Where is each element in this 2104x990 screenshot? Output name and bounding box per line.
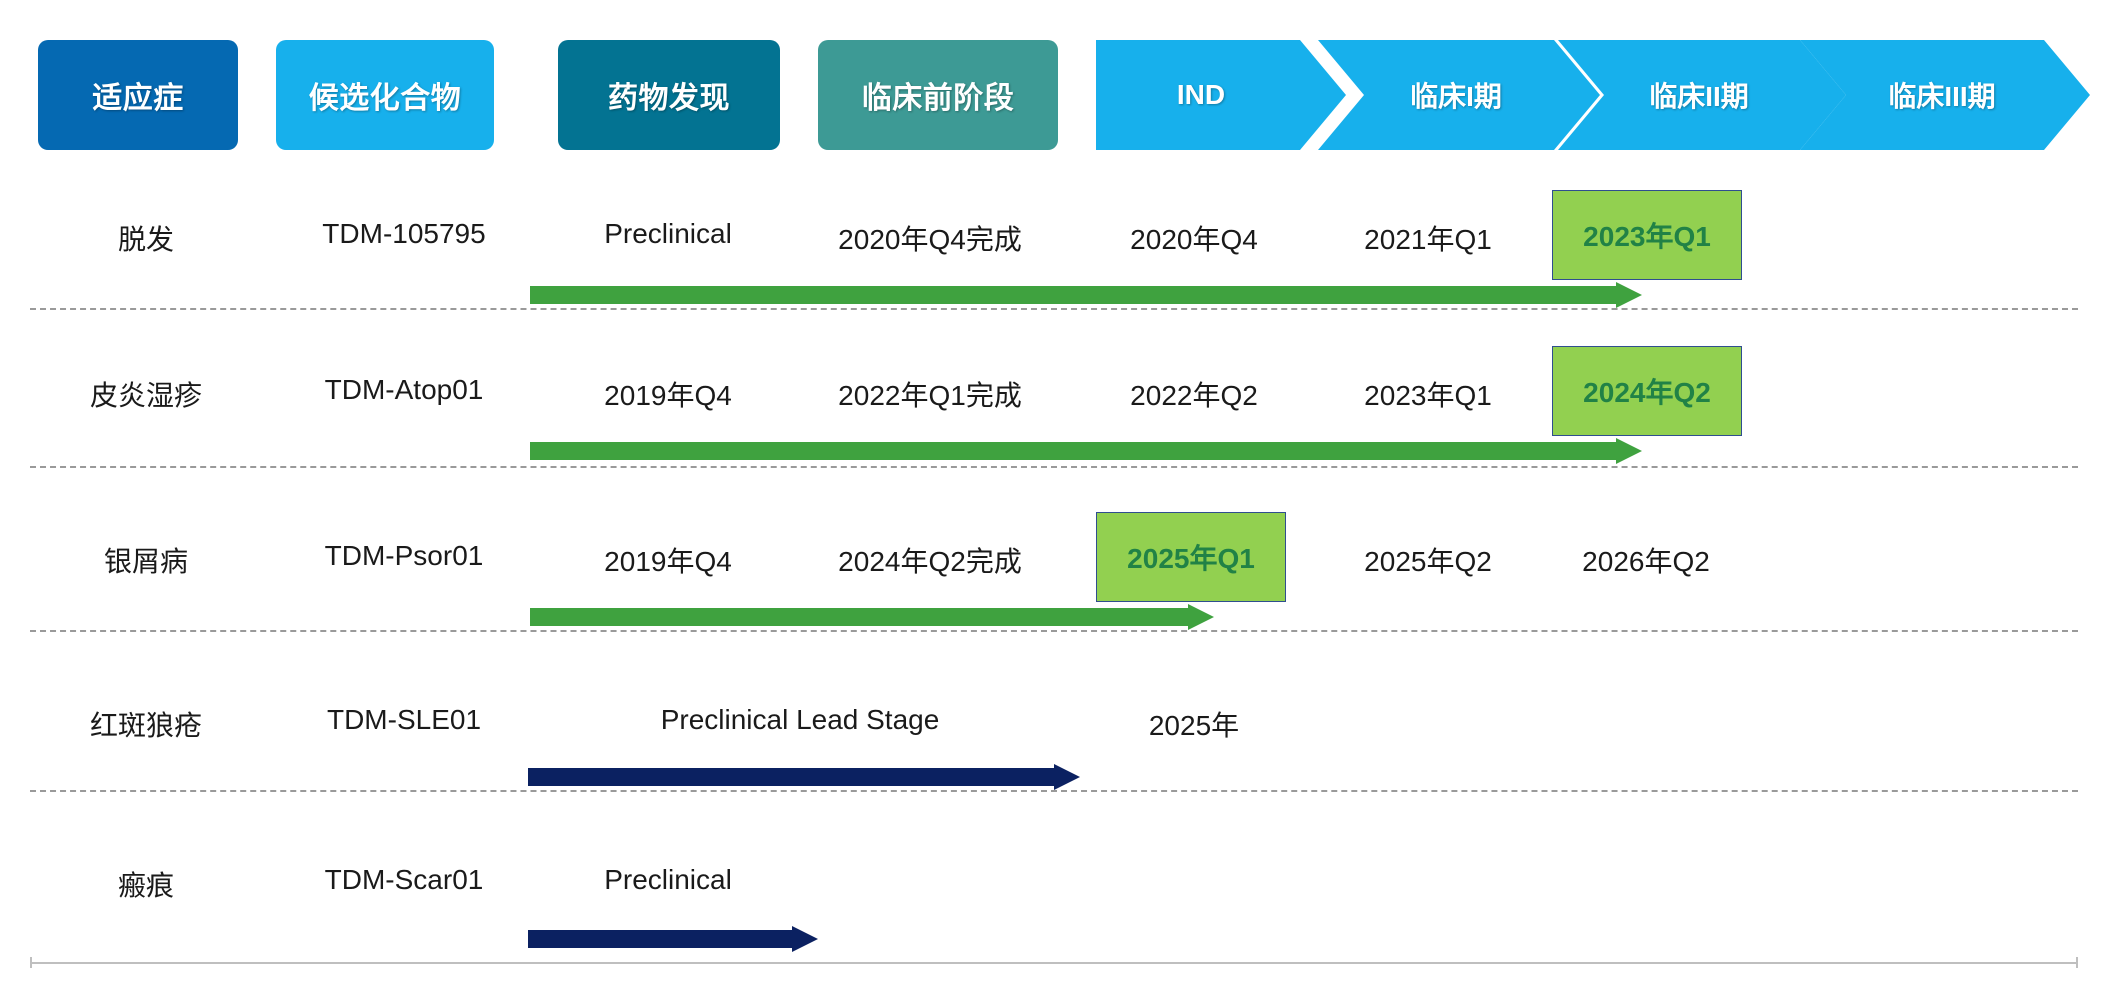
progress-arrow bbox=[528, 764, 1080, 790]
header-preclinical[interactable]: 临床前阶段 bbox=[818, 40, 1058, 150]
milestone-label: 2024年Q2 bbox=[1583, 371, 1711, 411]
header-phase-1[interactable]: 临床I期 bbox=[1318, 40, 1600, 150]
milestone-label: 2023年Q1 bbox=[1583, 215, 1711, 255]
arrow-head bbox=[1188, 604, 1214, 630]
header-candidate-compound-label: 候选化合物 bbox=[309, 73, 462, 117]
bottom-separator bbox=[30, 962, 2078, 964]
row-compound: TDM-Atop01 bbox=[325, 374, 484, 406]
table-row: 脱发 TDM-105795 Preclinical 2020年Q4完成 2020… bbox=[0, 190, 2104, 310]
header-drug-discovery[interactable]: 药物发现 bbox=[558, 40, 780, 150]
row-compound: TDM-Psor01 bbox=[325, 540, 484, 572]
header-candidate-compound[interactable]: 候选化合物 bbox=[276, 40, 494, 150]
row-compound: TDM-SLE01 bbox=[327, 704, 481, 736]
row-indication: 脱发 bbox=[118, 218, 174, 258]
row-compound: TDM-105795 bbox=[322, 218, 485, 250]
row-separator bbox=[30, 630, 2078, 632]
row-discovery: Preclinical bbox=[604, 864, 732, 896]
row-indication: 皮炎湿疹 bbox=[90, 374, 202, 414]
row-phase-1: 2021年Q1 bbox=[1364, 218, 1492, 258]
row-ind: 2020年Q4 bbox=[1130, 218, 1258, 258]
milestone-badge[interactable]: 2023年Q1 bbox=[1552, 190, 1742, 280]
row-compound: TDM-Scar01 bbox=[325, 864, 484, 896]
row-preclinical: 2020年Q4完成 bbox=[838, 218, 1022, 258]
row-span-label: Preclinical Lead Stage bbox=[661, 704, 940, 736]
header-ind[interactable]: IND bbox=[1096, 40, 1346, 150]
progress-arrow bbox=[530, 438, 1642, 464]
arrow-shaft bbox=[530, 442, 1616, 460]
arrow-head bbox=[1616, 438, 1642, 464]
row-separator bbox=[30, 308, 2078, 310]
header-phase-2-label: 临床II期 bbox=[1649, 75, 1749, 115]
arrow-head bbox=[1054, 764, 1080, 790]
arrow-shaft bbox=[528, 768, 1054, 786]
table-row: 银屑病 TDM-Psor01 2019年Q4 2024年Q2完成 2025年Q1… bbox=[0, 512, 2104, 634]
row-phase-1: 2023年Q1 bbox=[1364, 374, 1492, 414]
header-indication[interactable]: 适应症 bbox=[38, 40, 238, 150]
progress-arrow bbox=[530, 604, 1214, 630]
row-phase-1: 2025年Q2 bbox=[1364, 540, 1492, 580]
arrow-head bbox=[1616, 282, 1642, 308]
row-discovery: 2019年Q4 bbox=[604, 540, 732, 580]
table-row: 红斑狼疮 TDM-SLE01 Preclinical Lead Stage 20… bbox=[0, 676, 2104, 796]
header-preclinical-label: 临床前阶段 bbox=[862, 73, 1015, 117]
header-phase-2[interactable]: 临床II期 bbox=[1558, 40, 1846, 150]
header-phase-3-label: 临床III期 bbox=[1888, 75, 1995, 115]
pipeline-header-row: 适应症 候选化合物 药物发现 临床前阶段 IND 临床I期 临床II期 临床II… bbox=[0, 40, 2104, 150]
header-phase-1-label: 临床I期 bbox=[1410, 75, 1502, 115]
header-indication-label: 适应症 bbox=[92, 73, 184, 117]
row-ind: 2022年Q2 bbox=[1130, 374, 1258, 414]
milestone-label: 2025年Q1 bbox=[1127, 537, 1255, 577]
milestone-badge[interactable]: 2025年Q1 bbox=[1096, 512, 1286, 602]
row-discovery: 2019年Q4 bbox=[604, 374, 732, 414]
row-indication: 银屑病 bbox=[104, 540, 188, 580]
arrow-shaft bbox=[530, 608, 1188, 626]
bottom-separator-cap-left bbox=[30, 957, 32, 968]
pipeline-chart: 适应症 候选化合物 药物发现 临床前阶段 IND 临床I期 临床II期 临床II… bbox=[0, 0, 2104, 990]
header-drug-discovery-label: 药物发现 bbox=[608, 73, 730, 117]
row-preclinical: 2024年Q2完成 bbox=[838, 540, 1022, 580]
row-phase-2: 2026年Q2 bbox=[1582, 540, 1710, 580]
arrow-shaft bbox=[528, 930, 792, 948]
bottom-separator-cap-right bbox=[2076, 957, 2078, 968]
header-ind-label: IND bbox=[1177, 79, 1225, 111]
row-separator bbox=[30, 790, 2078, 792]
row-preclinical: 2022年Q1完成 bbox=[838, 374, 1022, 414]
progress-arrow bbox=[530, 282, 1642, 308]
row-indication: 红斑狼疮 bbox=[90, 704, 202, 744]
arrow-head bbox=[792, 926, 818, 952]
table-row: 皮炎湿疹 TDM-Atop01 2019年Q4 2022年Q1完成 2022年Q… bbox=[0, 352, 2104, 472]
progress-arrow bbox=[528, 926, 818, 952]
milestone-badge[interactable]: 2024年Q2 bbox=[1552, 346, 1742, 436]
table-row: 瘢痕 TDM-Scar01 Preclinical bbox=[0, 838, 2104, 962]
row-separator bbox=[30, 466, 2078, 468]
arrow-shaft bbox=[530, 286, 1616, 304]
row-indication: 瘢痕 bbox=[118, 864, 174, 904]
row-discovery: Preclinical bbox=[604, 218, 732, 250]
row-ind: 2025年 bbox=[1149, 704, 1239, 744]
